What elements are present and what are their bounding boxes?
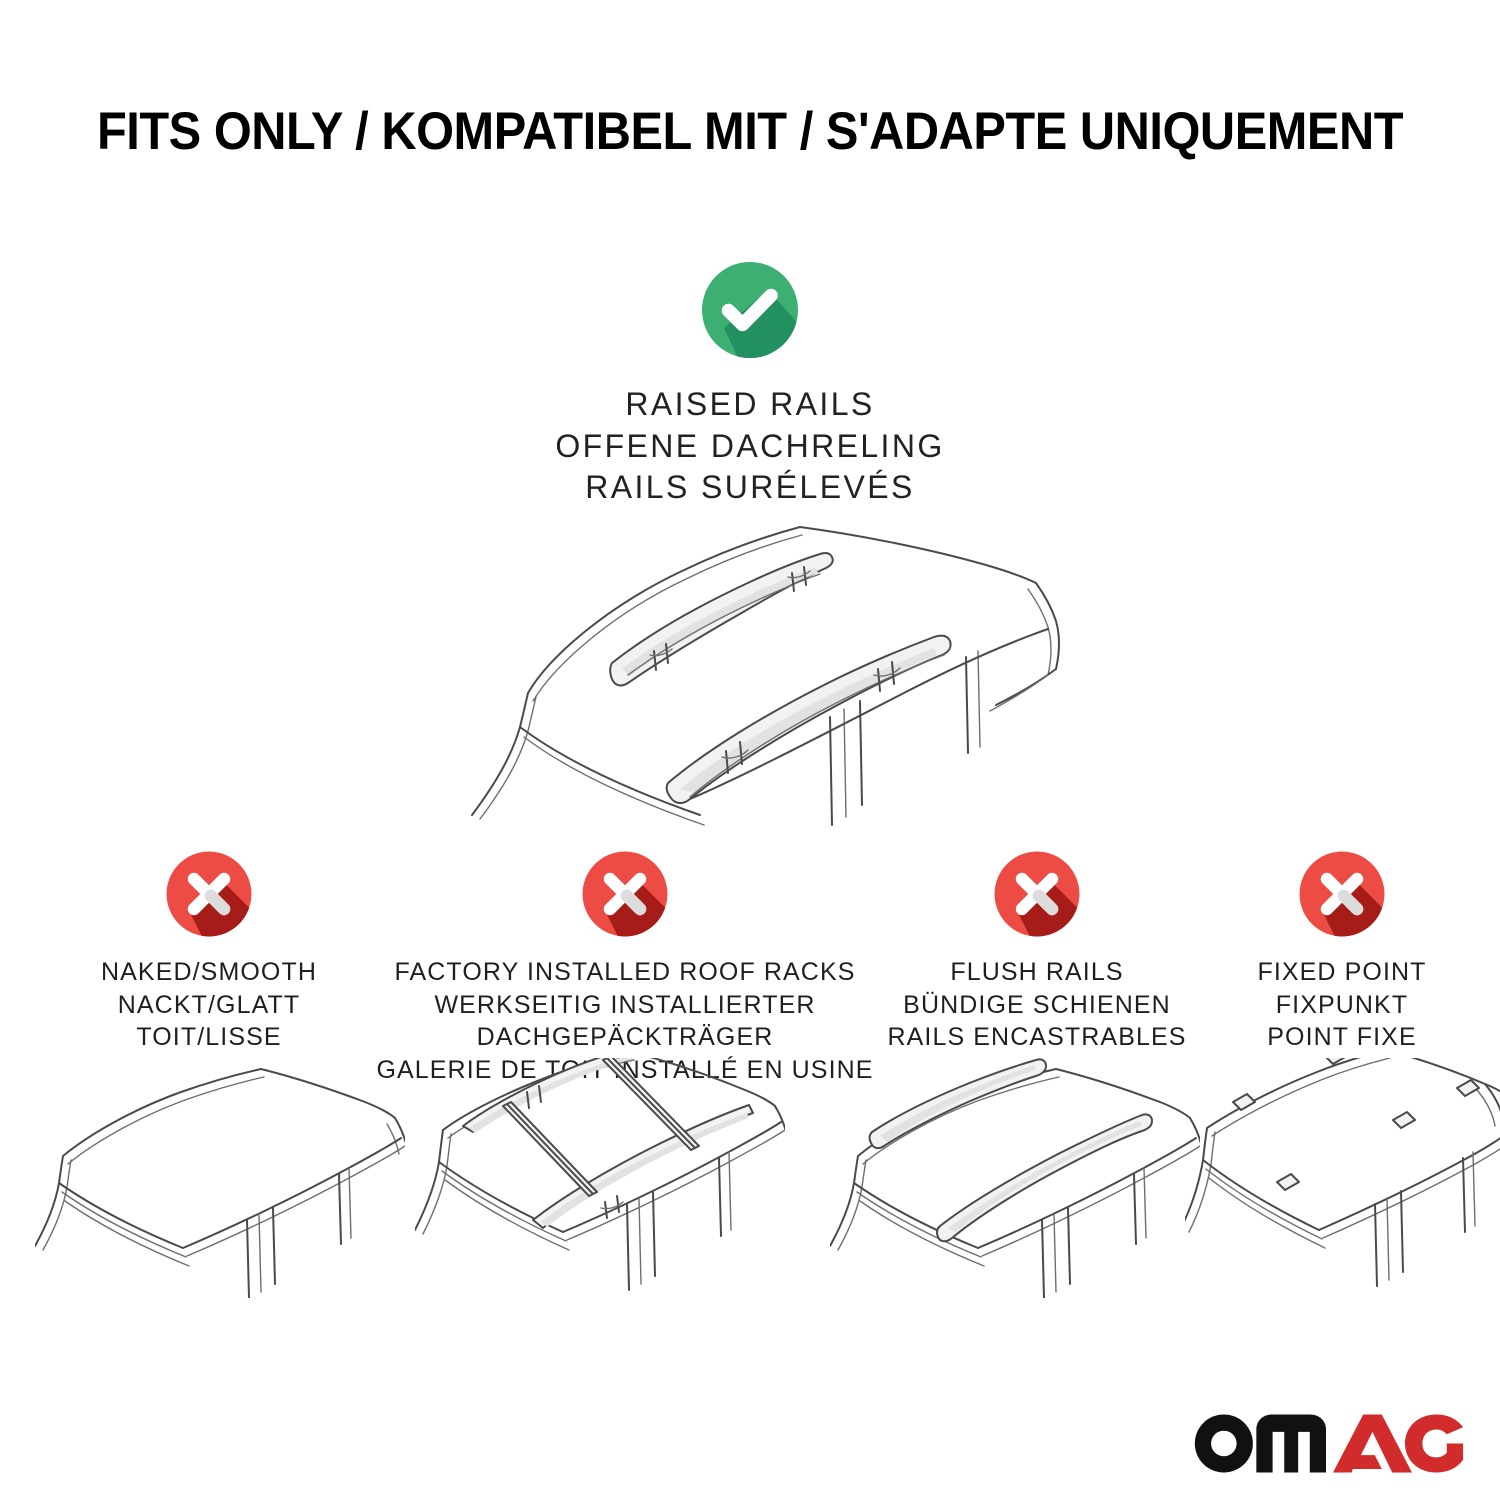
incompatible-item-factory-roof-racks: FACTORY INSTALLED ROOF RACKS WERKSEITIG … xyxy=(400,848,850,1086)
incompatible-section: NAKED/SMOOTH NACKT/GLATT TOIT/LISSE FACT… xyxy=(0,848,1500,1058)
label-en: FACTORY INSTALLED ROOF RACKS xyxy=(376,956,873,989)
red-x-circle-icon xyxy=(163,848,255,940)
incompatible-labels: FLUSH RAILS BÜNDIGE SCHIENEN RAILS ENCAS… xyxy=(887,956,1186,1054)
incompatible-labels: NAKED/SMOOTH NACKT/GLATT TOIT/LISSE xyxy=(101,956,317,1054)
red-x-circle-icon xyxy=(1296,848,1388,940)
raised-rails-roof-illustration xyxy=(400,505,1100,835)
naked-smooth-roof-illustration xyxy=(35,1058,405,1298)
label-en: FIXED POINT xyxy=(1257,956,1426,989)
incompatible-item-fixed-point: FIXED POINT FIXPUNKT POINT FIXE xyxy=(1222,848,1462,1054)
incompatible-illustrations xyxy=(0,1058,1500,1298)
incompatible-item-naked-smooth: NAKED/SMOOTH NACKT/GLATT TOIT/LISSE xyxy=(44,848,374,1054)
label-de-2: DACHGEPÄCKTRÄGER xyxy=(376,1021,873,1054)
green-check-circle-icon xyxy=(698,258,802,362)
flush-rails-illustration xyxy=(830,1058,1200,1298)
compatible-label-de: OFFENE DACHRELING xyxy=(555,426,944,468)
compatible-section: RAISED RAILS OFFENE DACHRELING RAILS SUR… xyxy=(0,258,1500,509)
compatible-labels: RAISED RAILS OFFENE DACHRELING RAILS SUR… xyxy=(555,384,944,509)
red-x-circle-icon xyxy=(991,848,1083,940)
compatible-label-en: RAISED RAILS xyxy=(555,384,944,426)
factory-roof-racks-illustration xyxy=(415,1058,785,1298)
fixed-point-illustration xyxy=(1185,1058,1500,1298)
label-de-1: WERKSEITIG INSTALLIERTER xyxy=(376,989,873,1022)
page-title: FITS ONLY / KOMPATIBEL MIT / S'ADAPTE UN… xyxy=(60,104,1440,160)
label-fr: RAILS ENCASTRABLES xyxy=(887,1021,1186,1054)
compatible-label-fr: RAILS SURÉLEVÉS xyxy=(555,467,944,509)
label-de: NACKT/GLATT xyxy=(101,989,317,1022)
red-x-circle-icon xyxy=(579,848,671,940)
label-en: NAKED/SMOOTH xyxy=(101,956,317,989)
label-de: BÜNDIGE SCHIENEN xyxy=(887,989,1186,1022)
incompatible-item-flush-rails: FLUSH RAILS BÜNDIGE SCHIENEN RAILS ENCAS… xyxy=(872,848,1202,1054)
omac-logo xyxy=(1189,1404,1468,1476)
label-de: FIXPUNKT xyxy=(1257,989,1426,1022)
page-header: FITS ONLY / KOMPATIBEL MIT / S'ADAPTE UN… xyxy=(0,104,1500,160)
incompatible-labels: FIXED POINT FIXPUNKT POINT FIXE xyxy=(1257,956,1426,1054)
label-en: FLUSH RAILS xyxy=(887,956,1186,989)
label-fr: TOIT/LISSE xyxy=(101,1021,317,1054)
label-fr: POINT FIXE xyxy=(1257,1021,1426,1054)
